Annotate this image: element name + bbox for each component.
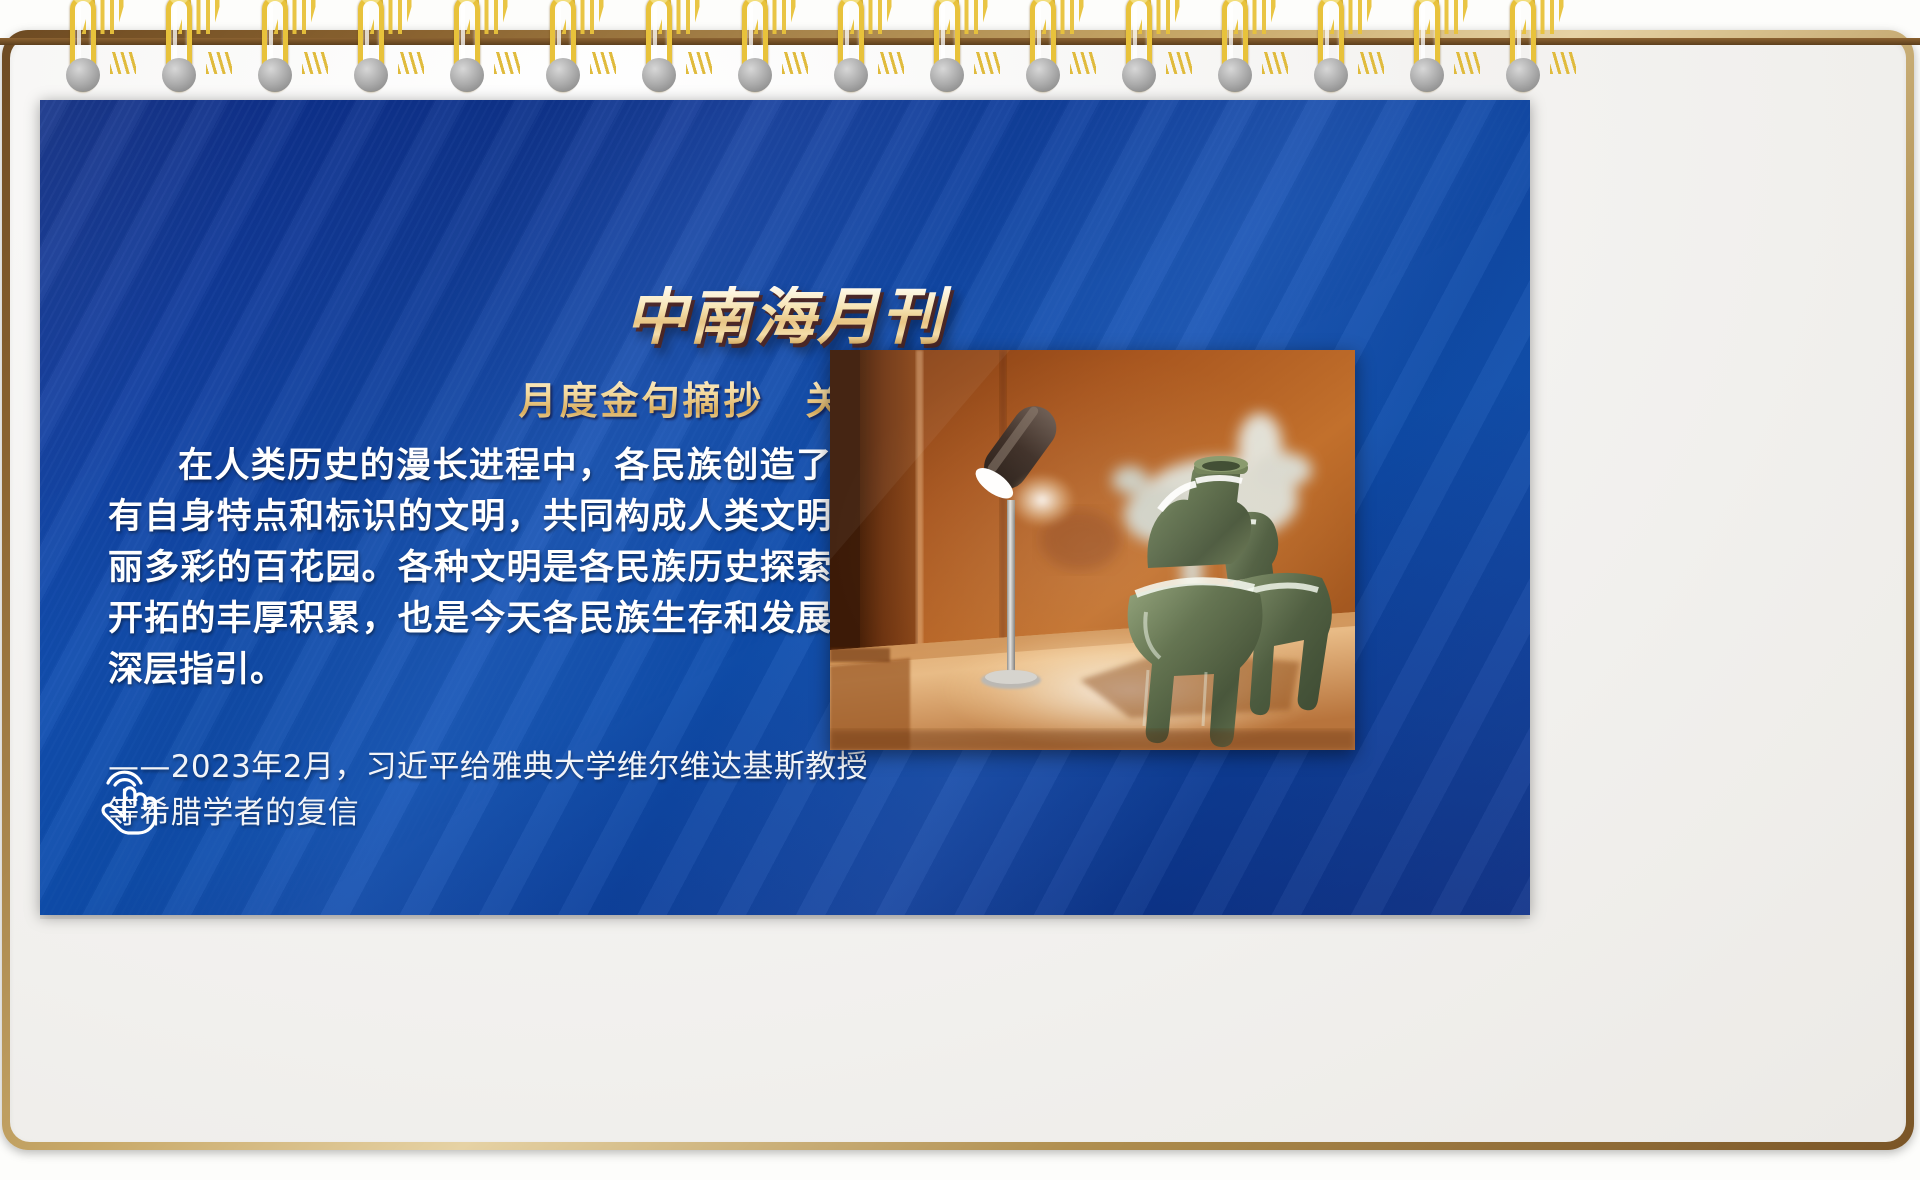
binding-ring-tail bbox=[1330, 0, 1377, 34]
binding-ring-tail bbox=[466, 0, 513, 34]
slide-canvas: 中南海月刊 月度金句摘抄 关键词：文明 在人类历史的漫长进程中，各民族创造了具有… bbox=[40, 100, 1530, 915]
binding-ring-tail bbox=[1042, 0, 1089, 34]
binding-ring-tail bbox=[274, 0, 321, 34]
slide-bottom-edge bbox=[40, 915, 1530, 919]
binding-ring-tail bbox=[1138, 0, 1185, 34]
page-title: 中南海月刊 bbox=[40, 286, 1530, 348]
binding-ring-tail bbox=[754, 0, 801, 34]
binding-ring-tail bbox=[1426, 0, 1473, 34]
notebook-page: 中南海月刊 月度金句摘抄 关键词：文明 在人类历史的漫长进程中，各民族创造了具有… bbox=[0, 0, 1920, 1180]
binding-ring-tail bbox=[850, 0, 897, 34]
museum-bronze-camels-photo bbox=[830, 350, 1355, 750]
binding-ring-tail bbox=[178, 0, 225, 34]
binding-ring-tail bbox=[82, 0, 129, 34]
hand-tap-icon[interactable] bbox=[95, 760, 161, 836]
binding-ring-tail bbox=[370, 0, 417, 34]
binding-ring-tail bbox=[946, 0, 993, 34]
quote-text: 在人类历史的漫长进程中，各民族创造了具有自身特点和标识的文明，共同构成人类文明绚… bbox=[108, 440, 868, 695]
quote-attribution: ——2023年2月，习近平给雅典大学维尔维达基斯教授等希腊学者的复信 bbox=[108, 745, 868, 837]
binding-ring-tail bbox=[1522, 0, 1569, 34]
binding-ring-tail bbox=[658, 0, 705, 34]
binding-ring-tail bbox=[562, 0, 609, 34]
binding-ring-tail bbox=[1234, 0, 1281, 34]
